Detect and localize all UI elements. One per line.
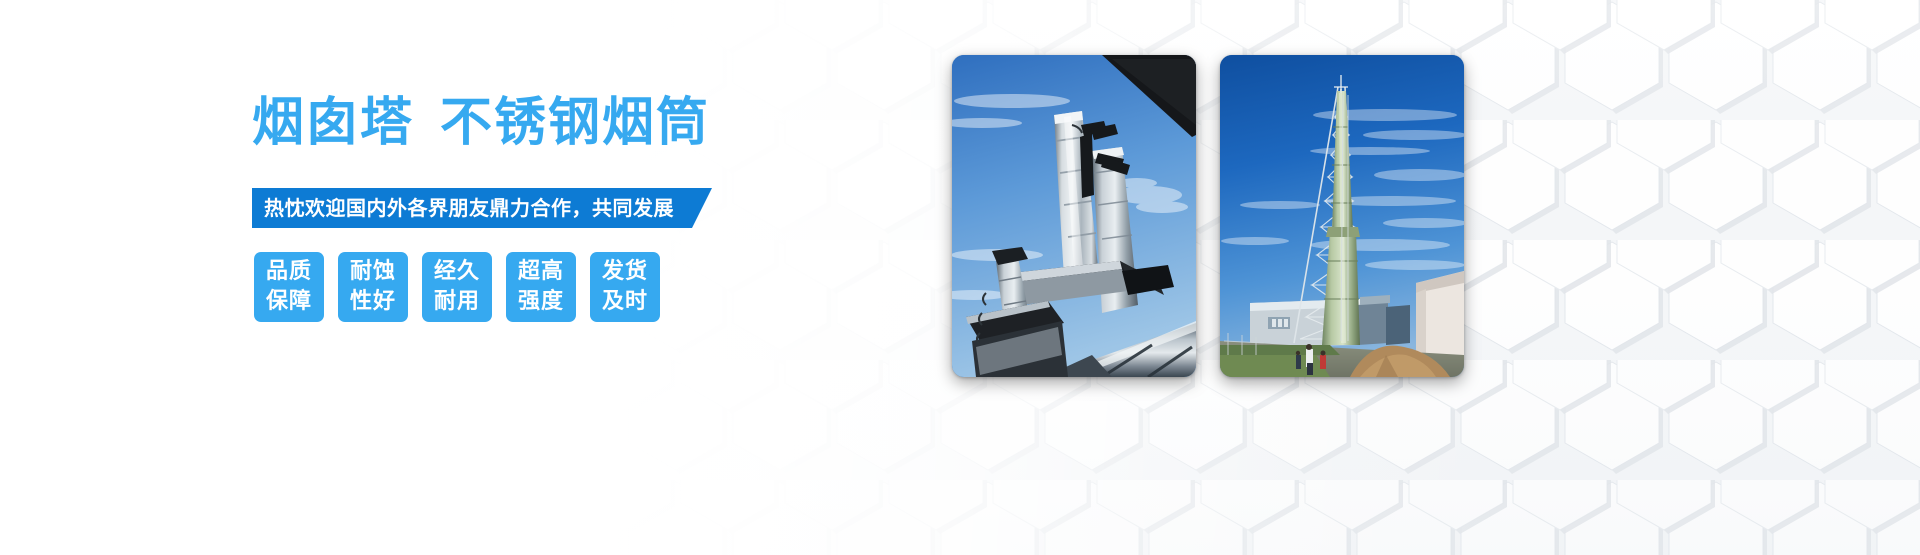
headline-part-2: 不锈钢烟筒 xyxy=(440,93,710,153)
feature-line-2: 耐用 xyxy=(434,287,480,317)
page-title: 烟囱塔不锈钢烟筒 xyxy=(252,92,710,154)
text-block: 烟囱塔不锈钢烟筒 热忱欢迎国内外各界朋友鼎力合作，共同发展 品质 保障 耐蚀 性… xyxy=(252,0,892,555)
feature-line-2: 性好 xyxy=(350,287,396,317)
headline-part-1: 烟囱塔 xyxy=(252,93,414,153)
feature-badge[interactable]: 超高 强度 xyxy=(506,252,576,322)
feature-badge[interactable]: 发货 及时 xyxy=(590,252,660,322)
feature-line-2: 保障 xyxy=(266,287,312,317)
product-photo-chimney-stacks[interactable] xyxy=(952,55,1196,377)
feature-badge[interactable]: 品质 保障 xyxy=(254,252,324,322)
feature-line-1: 经久 xyxy=(434,257,480,287)
promo-banner: 烟囱塔不锈钢烟筒 热忱欢迎国内外各界朋友鼎力合作，共同发展 品质 保障 耐蚀 性… xyxy=(0,0,1920,555)
feature-line-1: 耐蚀 xyxy=(350,257,396,287)
photo-gallery xyxy=(952,55,1464,377)
slogan-bar: 热忱欢迎国内外各界朋友鼎力合作，共同发展 xyxy=(252,188,692,228)
feature-line-1: 品质 xyxy=(266,257,312,287)
feature-line-1: 超高 xyxy=(518,257,564,287)
feature-line-1: 发货 xyxy=(602,257,648,287)
slogan-text: 热忱欢迎国内外各界朋友鼎力合作，共同发展 xyxy=(252,188,692,228)
feature-badges: 品质 保障 耐蚀 性好 经久 耐用 超高 强度 发货 及时 xyxy=(254,252,660,322)
feature-badge[interactable]: 经久 耐用 xyxy=(422,252,492,322)
feature-line-2: 及时 xyxy=(602,287,648,317)
feature-badge[interactable]: 耐蚀 性好 xyxy=(338,252,408,322)
feature-line-2: 强度 xyxy=(518,287,564,317)
product-photo-lattice-tower[interactable] xyxy=(1220,55,1464,377)
